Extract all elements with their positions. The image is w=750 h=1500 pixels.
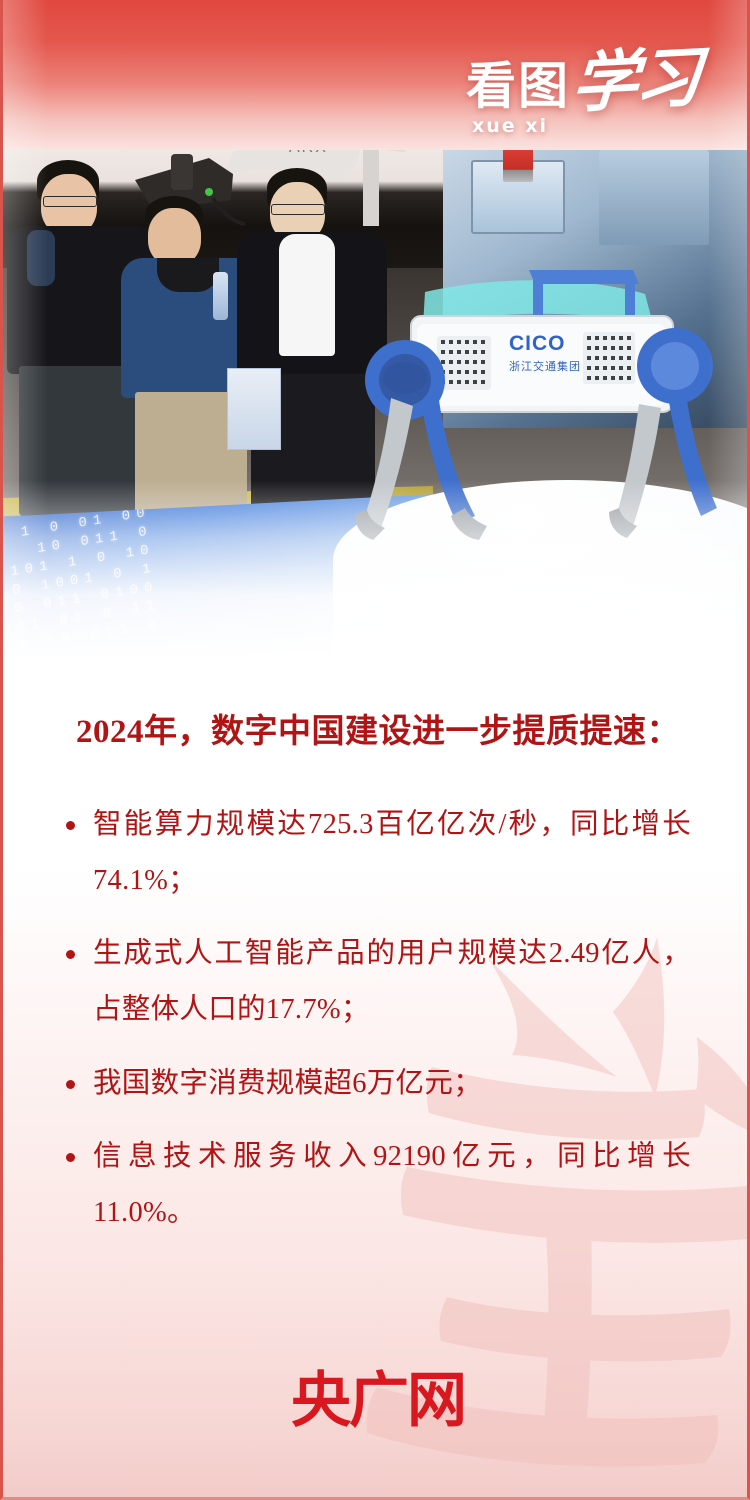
brand-title-calligraphy: 学习 (570, 47, 701, 114)
brand-title-plain: 看图 (466, 61, 570, 111)
article-headline: 2024年，数字中国建设进一步提质提速： (47, 712, 709, 753)
poster-root: ARX (0, 0, 750, 1500)
list-item: 信息技术服务收入92190亿元，同比增长11.0%。 (93, 1129, 691, 1240)
cnr-logo: 央广网 (291, 1352, 465, 1439)
list-item: 智能算力规模达725.3百亿亿次/秒，同比增长74.1%； (93, 797, 691, 908)
statistics-list: 智能算力规模达725.3百亿亿次/秒，同比增长74.1%； 生成式人工智能产品的… (47, 797, 709, 1240)
footer: 央广网 (3, 1317, 750, 1497)
list-item: 我国数字消费规模超6万亿元； (93, 1056, 691, 1112)
article-content: 2024年，数字中国建设进一步提质提速： 智能算力规模达725.3百亿亿次/秒，… (3, 660, 750, 1258)
hero-photo: ARX (3, 0, 750, 660)
brand-lockup: 看图 学习 xue xi (466, 50, 698, 137)
list-item: 生成式人工智能产品的用户规模达2.49亿人，占整体人口的17.7%； (93, 926, 691, 1037)
